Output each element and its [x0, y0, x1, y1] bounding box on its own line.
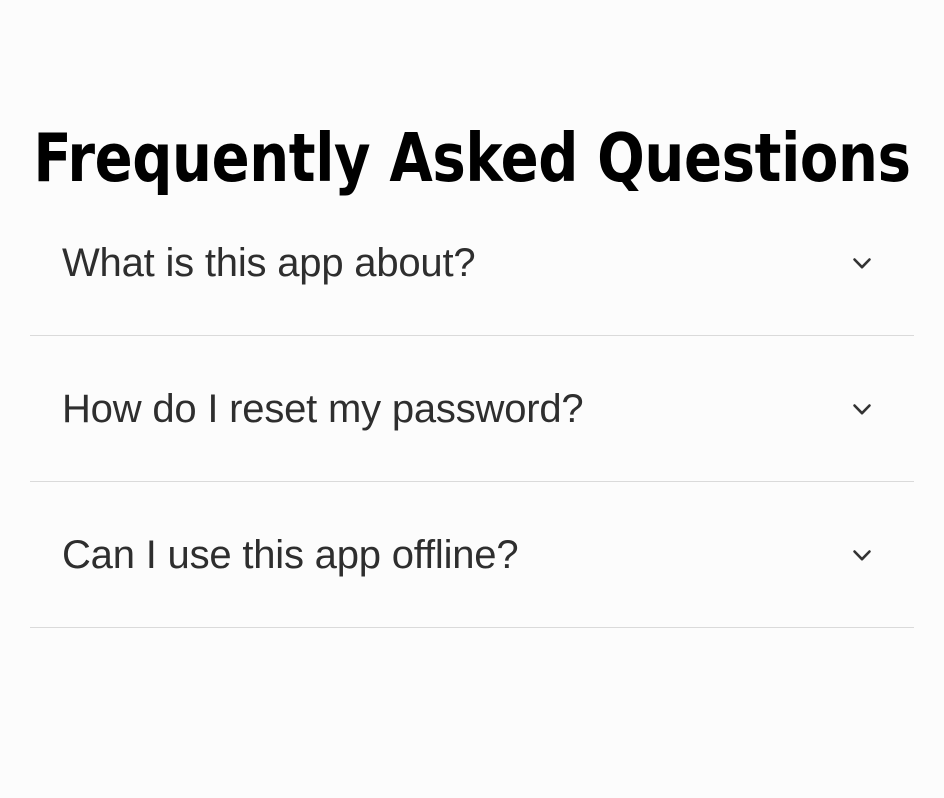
faq-question-label: What is this app about? [62, 240, 475, 286]
faq-question-label: How do I reset my password? [62, 386, 583, 432]
faq-page: Frequently Asked Questions What is this … [0, 0, 944, 798]
faq-item[interactable]: How do I reset my password? [30, 336, 914, 482]
chevron-down-icon[interactable] [848, 541, 876, 569]
chevron-down-icon[interactable] [848, 249, 876, 277]
faq-question-toggle[interactable]: Can I use this app offline? [30, 482, 914, 627]
chevron-down-icon[interactable] [848, 395, 876, 423]
faq-question-toggle[interactable]: How do I reset my password? [30, 336, 914, 481]
faq-accordion: What is this app about? How do I reset m… [30, 190, 914, 628]
page-title: Frequently Asked Questions [33, 120, 911, 196]
faq-item[interactable]: What is this app about? [30, 190, 914, 336]
faq-item[interactable]: Can I use this app offline? [30, 482, 914, 628]
faq-question-label: Can I use this app offline? [62, 532, 518, 578]
faq-question-toggle[interactable]: What is this app about? [30, 190, 914, 335]
